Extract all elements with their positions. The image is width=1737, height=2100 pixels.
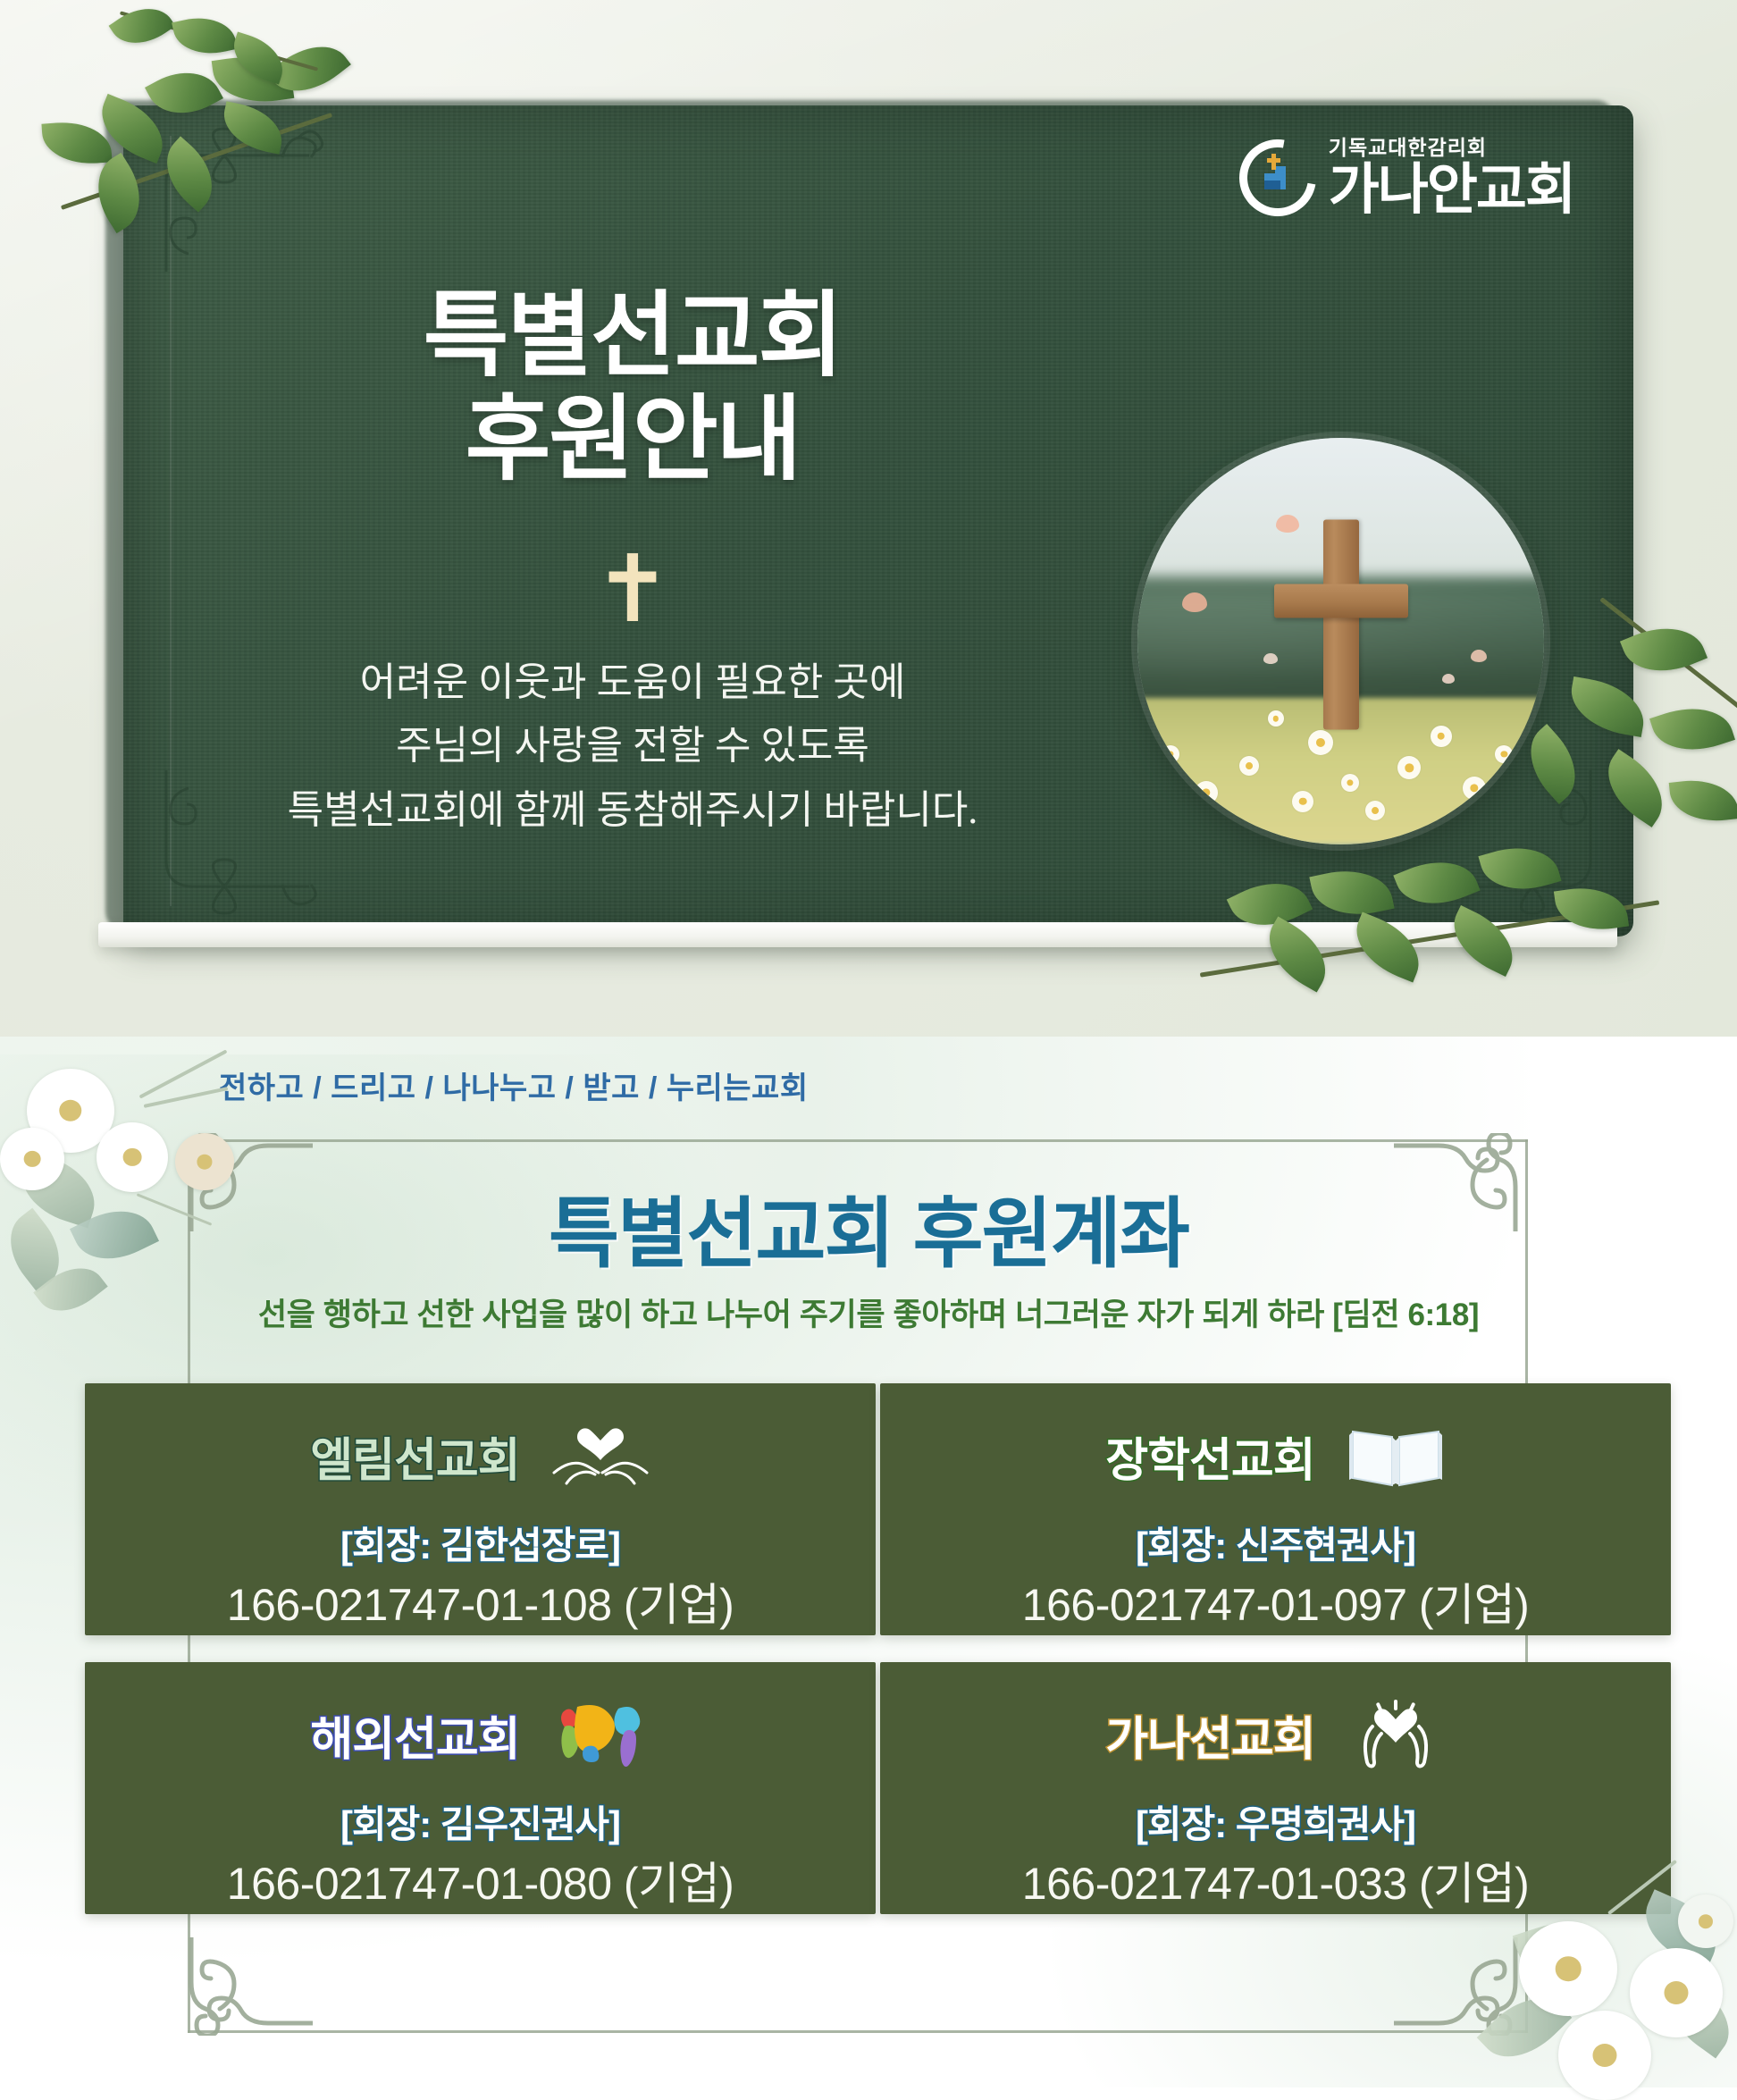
church-logo-mark-icon: [1239, 139, 1316, 216]
hands-holding-heart-icon: [550, 1421, 650, 1491]
open-book-icon: [1346, 1421, 1446, 1491]
mission-account-number[interactable]: 166-021747-01-108 (기업): [85, 1569, 876, 1634]
church-tagline: 전하고 / 드리고 / 나나누고 / 받고 / 누리는교회: [219, 1063, 809, 1107]
frame-line-bottom: [188, 2030, 1528, 2033]
mission-chair: [회장: 김한섭장로]: [85, 1516, 876, 1570]
mission-chair: [회장: 우명희권사]: [880, 1794, 1671, 1849]
banner-title: 특별선교회 후원안내: [293, 284, 972, 492]
mission-account-number[interactable]: 166-021747-01-097 (기업): [880, 1569, 1671, 1634]
banner-body-line-3: 특별선교회에 함께 동참해주시기 바랍니다.: [257, 778, 1008, 842]
cross-meadow-photo: [1137, 438, 1544, 844]
bible-verse: 선을 행하고 선한 사업을 많이 하고 나누어 주기를 좋아하며 너그러운 자가…: [0, 1289, 1737, 1335]
account-card-janghak[interactable]: 장학선교회 [회장: 신주현권사] 166-021747-01-097 (기업): [880, 1383, 1671, 1635]
mission-account-number[interactable]: 166-021747-01-080 (기업): [85, 1848, 876, 1912]
account-card-haeoe[interactable]: 해외선교회 [회장: 김우진권사] 166-021747-01-080 (기업): [85, 1662, 876, 1914]
top-banner: 기독교대한감리회 가나안교회 특별선교회 후원안내 ✝ 어려운 이웃과 도움이 …: [0, 0, 1737, 1037]
banner-title-line-1: 특별선교회: [293, 284, 972, 388]
account-card-gana[interactable]: 가나선교회 [회장: 우명희권사] 166-021747-01-033 (기업): [880, 1662, 1671, 1914]
account-cards-grid: 엘림선교회 [회장: 김한섭장로] 166-021747-01-108 (기업)…: [85, 1383, 1671, 1914]
mission-name: 장학선교회: [1105, 1423, 1314, 1490]
card-header: 해외선교회: [85, 1700, 876, 1769]
banner-body-line-1: 어려운 이웃과 도움이 필요한 곳에: [257, 651, 1008, 714]
mission-name: 가나선교회: [1105, 1701, 1314, 1768]
card-header: 장학선교회: [880, 1421, 1671, 1491]
card-header: 엘림선교회: [85, 1421, 876, 1491]
accounts-heading: 특별선교회 후원계좌: [0, 1171, 1737, 1282]
wooden-cross-icon: [1274, 520, 1408, 730]
banner-body-text: 어려운 이웃과 도움이 필요한 곳에 주님의 사랑을 전할 수 있도록 특별선교…: [257, 651, 1008, 842]
mission-name: 엘림선교회: [310, 1423, 519, 1490]
world-map-icon: [550, 1700, 650, 1769]
church-logo: 기독교대한감리회 가나안교회: [1239, 138, 1574, 218]
plaque-corner-flourish-top-left: [139, 120, 327, 281]
frame-line-top: [188, 1139, 1528, 1142]
banner-body-line-2: 주님의 사랑을 전할 수 있도록: [257, 714, 1008, 777]
church-logo-name: 가나안교회: [1329, 163, 1574, 218]
church-logo-subtitle: 기독교대한감리회: [1329, 138, 1574, 158]
account-card-elim[interactable]: 엘림선교회 [회장: 김한섭장로] 166-021747-01-108 (기업): [85, 1383, 876, 1635]
green-plaque: 기독교대한감리회 가나안교회 특별선교회 후원안내 ✝ 어려운 이웃과 도움이 …: [123, 105, 1633, 937]
mission-chair: [회장: 김우진권사]: [85, 1794, 876, 1849]
frame-corner-bottom-left: [179, 1937, 313, 2036]
mission-account-number[interactable]: 166-021747-01-033 (기업): [880, 1848, 1671, 1912]
hands-with-heart-icon: [1346, 1700, 1446, 1769]
cross-symbol-icon: ✝: [293, 543, 972, 636]
mission-chair: [회장: 신주현권사]: [880, 1516, 1671, 1570]
mission-name: 해외선교회: [310, 1701, 519, 1768]
card-header: 가나선교회: [880, 1700, 1671, 1769]
banner-title-line-2: 후원안내: [293, 388, 972, 491]
